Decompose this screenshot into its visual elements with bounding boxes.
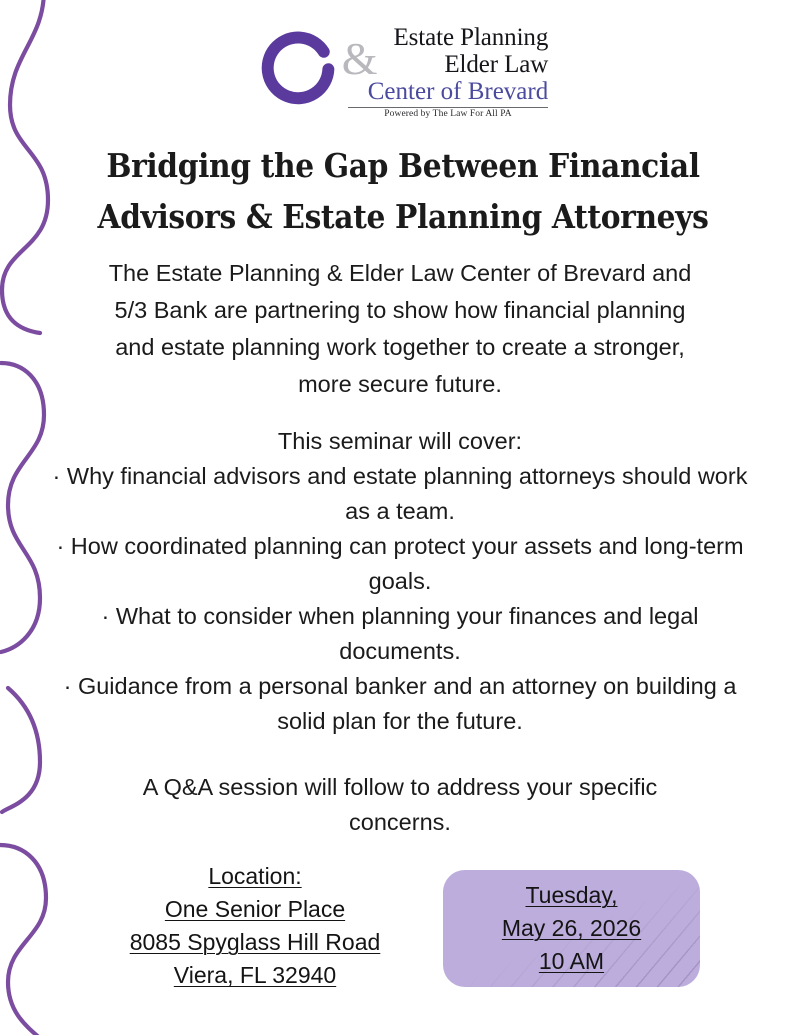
event-time: 10 AM: [539, 948, 604, 974]
logo-divider: [348, 107, 548, 108]
qa-line: A Q&A session will follow to address you…: [50, 770, 750, 805]
list-item: · What to consider when planning your fi…: [50, 599, 750, 669]
list-item: · Why financial advisors and estate plan…: [50, 459, 750, 529]
location-line: 8085 Spyglass Hill Road: [130, 929, 381, 955]
intro-line: more secure future.: [50, 366, 750, 403]
qa-note: A Q&A session will follow to address you…: [50, 770, 750, 840]
location-block: Location: One Senior Place 8085 Spyglass…: [95, 860, 415, 992]
event-datetime-badge: Tuesday, May 26, 2026 10 AM: [443, 870, 700, 987]
event-datetime-text: Tuesday, May 26, 2026 10 AM: [443, 870, 700, 987]
list-item: · Guidance from a personal banker and an…: [50, 669, 750, 739]
event-day: Tuesday,: [525, 882, 617, 908]
logo-line-center-of-brevard: Center of Brevard: [348, 79, 548, 104]
location-label: Location:: [208, 863, 301, 889]
seminar-coverage-list: This seminar will cover: · Why financial…: [50, 424, 750, 739]
intro-line: 5/3 Bank are partnering to show how fina…: [50, 292, 750, 329]
flyer-page: & Estate Planning Elder Law Center of Br…: [0, 0, 800, 1035]
location-line: Viera, FL 32940: [174, 962, 336, 988]
logo-line-elder-law: Elder Law: [410, 52, 548, 77]
location-line: One Senior Place: [165, 896, 345, 922]
intro-line: The Estate Planning & Elder Law Center o…: [50, 255, 750, 292]
logo-line-estate-planning: Estate Planning: [360, 25, 549, 50]
page-title: Bridging the Gap Between Financial Advis…: [93, 140, 714, 242]
open-circle-ring-icon: [252, 26, 344, 118]
intro-paragraph: The Estate Planning & Elder Law Center o…: [50, 255, 750, 403]
list-item: · How coordinated planning can protect y…: [50, 529, 750, 599]
intro-line: and estate planning work together to cre…: [50, 329, 750, 366]
seminar-lead-in: This seminar will cover:: [50, 424, 750, 459]
organization-logo: & Estate Planning Elder Law Center of Br…: [0, 22, 800, 122]
qa-line: concerns.: [50, 805, 750, 840]
logo-wordmark: & Estate Planning Elder Law Center of Br…: [348, 25, 548, 120]
event-date: May 26, 2026: [502, 915, 641, 941]
logo-tagline: Powered by The Law For All PA: [384, 110, 511, 120]
